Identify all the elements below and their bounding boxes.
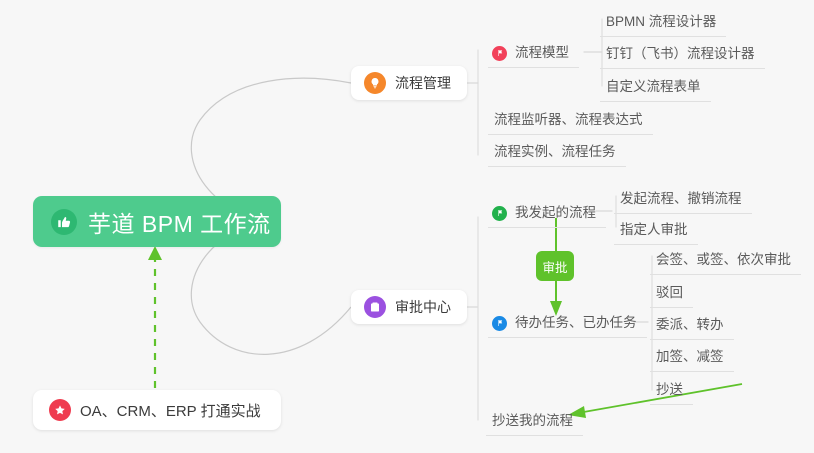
leaf-custom-form[interactable]: 自定义流程表单 — [600, 75, 711, 102]
branch-label-process-management: 流程管理 — [395, 73, 451, 93]
leaf-add-remove-sign[interactable]: 加签、减签 — [650, 345, 734, 372]
flag-icon — [492, 46, 507, 61]
leaf-process-instance[interactable]: 流程实例、流程任务 — [488, 140, 626, 167]
leaf-process-model[interactable]: 流程模型 — [488, 41, 579, 68]
integration-dashed-arrow — [148, 246, 162, 388]
approval-tag: 审批 — [536, 251, 574, 281]
leaf-delegate-transfer[interactable]: 委派、转办 — [650, 313, 734, 340]
lightbulb-icon — [364, 72, 386, 94]
integration-node-label: OA、CRM、ERP 打通实战 — [80, 400, 261, 421]
root-node[interactable]: 芋道 BPM 工作流 — [33, 196, 281, 247]
leaf-process-listener[interactable]: 流程监听器、流程表达式 — [488, 108, 653, 135]
leaf-cc-to-me[interactable]: 抄送我的流程 — [486, 409, 583, 436]
branch-node-approval-center[interactable]: 审批中心 — [351, 290, 467, 324]
leaf-reject[interactable]: 驳回 — [650, 281, 693, 308]
leaf-designated-approver[interactable]: 指定人审批 — [614, 218, 698, 245]
leaf-label: 待办任务、已办任务 — [515, 314, 637, 332]
clipboard-icon — [364, 296, 386, 318]
leaf-countersign[interactable]: 会签、或签、依次审批 — [650, 248, 801, 275]
branch-label-approval-center: 审批中心 — [395, 297, 451, 317]
branch-node-process-management[interactable]: 流程管理 — [351, 66, 467, 100]
leaf-dingtalk-designer[interactable]: 钉钉（飞书）流程设计器 — [600, 42, 765, 69]
flag-icon — [492, 206, 507, 221]
integration-node[interactable]: OA、CRM、ERP 打通实战 — [33, 390, 281, 430]
leaf-start-cancel-process[interactable]: 发起流程、撤销流程 — [614, 187, 752, 214]
root-label: 芋道 BPM 工作流 — [88, 205, 271, 239]
leaf-todo-done-tasks[interactable]: 待办任务、已办任务 — [488, 311, 647, 338]
leaf-label: 流程模型 — [515, 44, 569, 62]
thumbs-up-icon — [51, 209, 77, 235]
leaf-my-started-process[interactable]: 我发起的流程 — [488, 201, 606, 228]
leaf-label: 我发起的流程 — [515, 204, 596, 222]
mindmap-canvas: 芋道 BPM 工作流 流程管理 审批中心 OA、CRM、ERP 打通实战 — [0, 0, 814, 453]
leaf-bpmn-designer[interactable]: BPMN 流程设计器 — [600, 10, 726, 37]
star-icon — [49, 399, 71, 421]
flag-icon — [492, 316, 507, 331]
leaf-cc[interactable]: 抄送 — [650, 378, 693, 405]
